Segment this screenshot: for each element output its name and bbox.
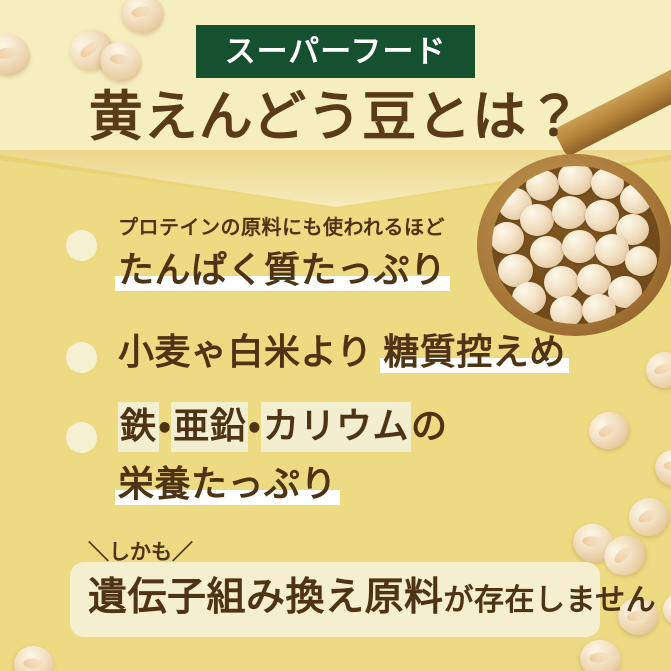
- nutrient-token: 亜鉛: [171, 408, 248, 444]
- page-title: 黄えんどう豆とは？: [0, 86, 671, 148]
- nutrient-separator: ・: [159, 405, 172, 446]
- bullet-dot-icon: [66, 422, 97, 453]
- list-item-main: 小麦ゃ白米より 糖質控えめ: [118, 334, 566, 370]
- highlighted-phrase: 栄養たっぷり: [118, 466, 337, 502]
- list-item-kicker: プロテインの原料にも使われるほど: [118, 218, 447, 238]
- nutrient-token: 鉄: [118, 408, 159, 444]
- list-item-main: 栄養たっぷり: [118, 466, 448, 502]
- nutrient-token: カリウム: [261, 408, 411, 444]
- list-item-body: プロテインの原料にも使われるほど たんぱく質たっぷり: [118, 218, 447, 288]
- infographic-poster: スーパーフード 黄えんどう豆とは？ プロテインの原料にも使われるほど たんぱく質…: [0, 0, 671, 671]
- bullet-dot-icon: [66, 230, 97, 261]
- panel-kicker: ＼しかも／: [88, 542, 193, 563]
- panel-statement-strong: 遺伝子組み換え原料: [88, 576, 444, 619]
- highlighted-phrase: 糖質控えめ: [383, 334, 566, 370]
- list-item-body: 小麦ゃ白米より 糖質控えめ: [118, 334, 566, 370]
- highlighted-phrase: たんぱく質たっぷり: [118, 252, 447, 288]
- nutrient-separator: ・: [248, 405, 261, 446]
- nutrient-suffix: の: [411, 405, 448, 446]
- list-item-nutrients: 鉄・亜鉛・カリウムの: [118, 408, 448, 444]
- bullet-dot-icon: [66, 342, 97, 373]
- spoon-pea-pile: [492, 166, 660, 324]
- superfood-badge: スーパーフード: [196, 25, 475, 78]
- list-item-main: たんぱく質たっぷり: [118, 252, 447, 288]
- panel-statement: 遺伝子組み換え原料が存在しません: [88, 578, 656, 617]
- panel-statement-weak: が存在しません: [444, 584, 657, 617]
- list-item-lead: 小麦ゃ白米より: [118, 331, 373, 372]
- list-item-body: 鉄・亜鉛・カリウムの 栄養たっぷり: [118, 408, 448, 502]
- badge-label: スーパーフード: [225, 36, 447, 67]
